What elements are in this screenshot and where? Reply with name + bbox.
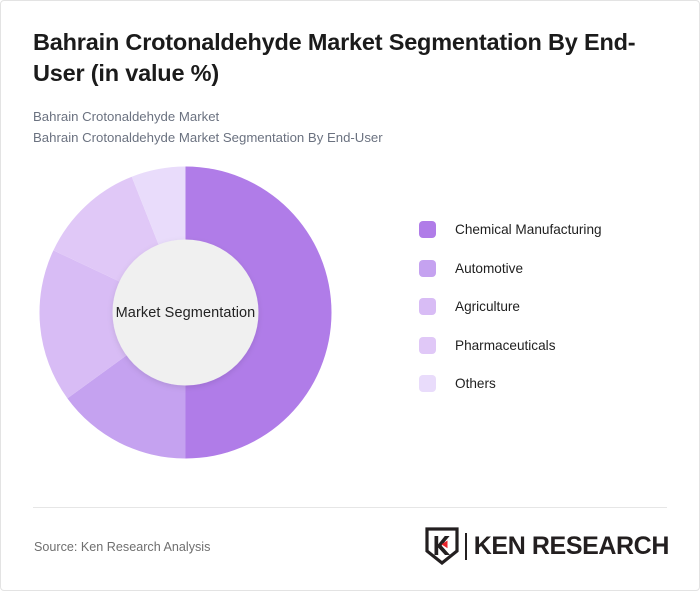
subtitle-group: Bahrain Crotonaldehyde Market Bahrain Cr… xyxy=(33,107,667,148)
source-text: Source: Ken Research Analysis xyxy=(34,540,210,554)
legend-swatch-icon xyxy=(419,298,436,315)
footer-divider xyxy=(33,507,667,508)
donut-hole xyxy=(113,240,259,386)
chart-header: Bahrain Crotonaldehyde Market Segmentati… xyxy=(1,1,699,148)
legend-label: Pharmaceuticals xyxy=(455,338,556,353)
legend-label: Others xyxy=(455,376,496,391)
legend-swatch-icon xyxy=(419,260,436,277)
legend-item[interactable]: Pharmaceuticals xyxy=(419,326,669,365)
brand-text: KEN RESEARCH xyxy=(474,534,669,559)
legend-swatch-icon xyxy=(419,221,436,238)
legend-item[interactable]: Automotive xyxy=(419,249,669,288)
donut-chart: Market Segmentation xyxy=(33,160,338,465)
legend-item[interactable]: Chemical Manufacturing xyxy=(419,210,669,249)
legend-label: Chemical Manufacturing xyxy=(455,222,602,237)
legend-swatch-icon xyxy=(419,375,436,392)
chart-card: Bahrain Crotonaldehyde Market Segmentati… xyxy=(0,0,700,591)
legend-label: Automotive xyxy=(455,261,523,276)
donut-svg xyxy=(33,160,338,465)
brand-logo: KEN RESEARCH xyxy=(425,527,669,565)
legend-item[interactable]: Agriculture xyxy=(419,287,669,326)
subtitle-line-2: Bahrain Crotonaldehyde Market Segmentati… xyxy=(33,128,667,149)
brand-divider xyxy=(465,533,467,560)
chart-footer: Source: Ken Research Analysis KEN RESEAR… xyxy=(1,507,699,590)
ken-research-shield-icon xyxy=(425,527,459,565)
chart-body: Market Segmentation Chemical Manufacturi… xyxy=(1,148,699,478)
subtitle-line-1: Bahrain Crotonaldehyde Market xyxy=(33,107,667,128)
page-title: Bahrain Crotonaldehyde Market Segmentati… xyxy=(33,27,667,89)
legend-swatch-icon xyxy=(419,337,436,354)
legend-label: Agriculture xyxy=(455,299,520,314)
legend-item[interactable]: Others xyxy=(419,365,669,404)
chart-legend: Chemical ManufacturingAutomotiveAgricult… xyxy=(419,210,669,403)
